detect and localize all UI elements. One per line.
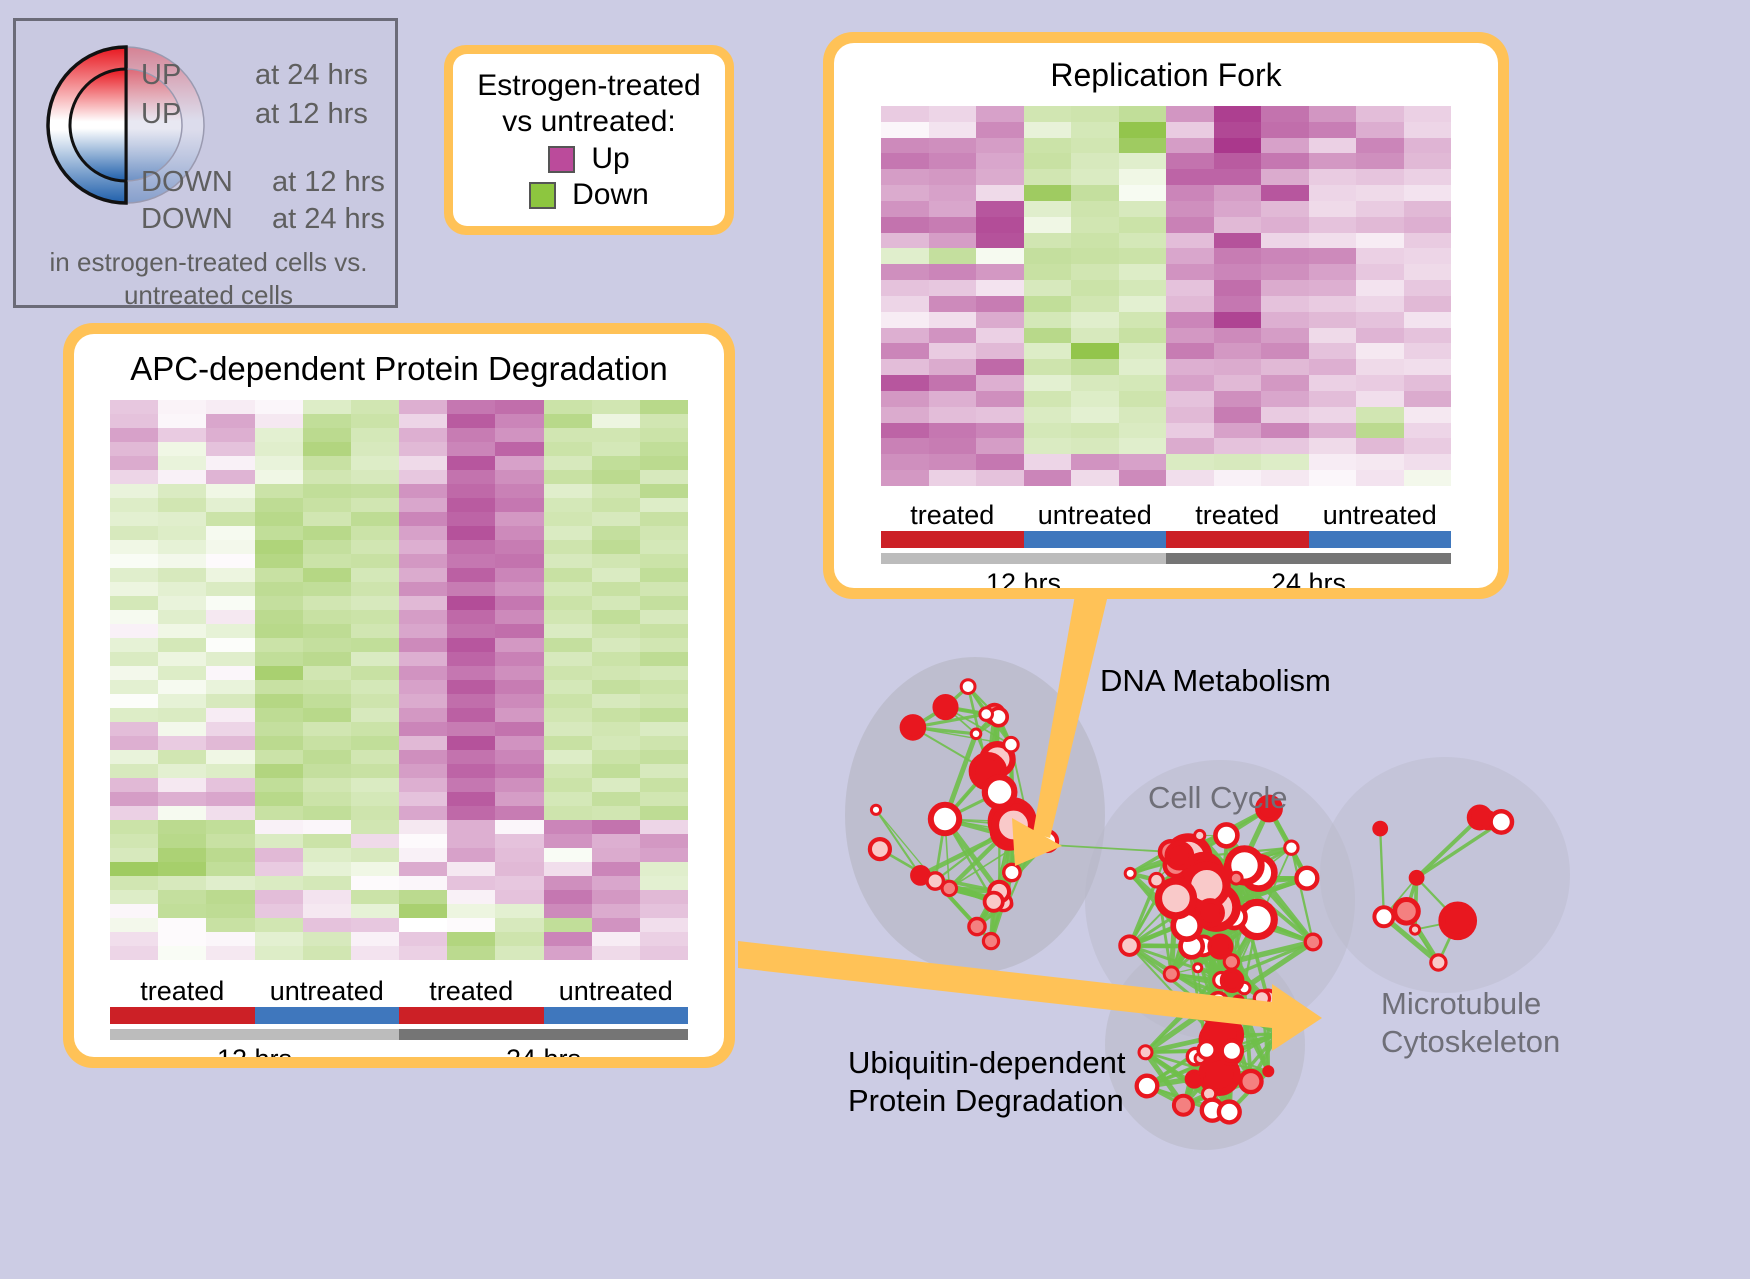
heatmap-cell — [1119, 328, 1167, 344]
heatmap-cell — [1166, 454, 1214, 470]
heatmap-cell — [1166, 328, 1214, 344]
heatmap-cell — [495, 932, 543, 946]
heatmap-cell — [447, 792, 495, 806]
heatmap-cell — [158, 442, 206, 456]
heatmap-cell — [592, 498, 640, 512]
heatmap-cell — [929, 153, 977, 169]
heatmap-cell — [495, 778, 543, 792]
heatmap-cell — [303, 610, 351, 624]
heatmap-cell — [158, 666, 206, 680]
heatmap-cell — [1166, 375, 1214, 391]
network-node — [1037, 831, 1057, 851]
heatmap-cell — [206, 442, 254, 456]
heatmap-cell — [1309, 153, 1357, 169]
heatmap-cell — [640, 498, 688, 512]
heatmap-cell — [351, 750, 399, 764]
heatmap-cell — [1166, 407, 1214, 423]
heatmap-cell — [303, 638, 351, 652]
heatmap-cell — [495, 652, 543, 666]
heatmap-cell — [1166, 296, 1214, 312]
heatmap-cell — [399, 778, 447, 792]
heatmap-cell — [447, 834, 495, 848]
network-node — [1004, 737, 1018, 751]
heatmap-cell — [399, 568, 447, 582]
network-node — [1194, 964, 1202, 972]
heatmap-cell — [1024, 185, 1072, 201]
key-time-down-24: at 24 hrs — [272, 203, 385, 236]
heatmap-cell — [976, 407, 1024, 423]
heatmap-cell — [351, 876, 399, 890]
down-label: Down — [572, 178, 649, 212]
heatmap-cell — [158, 680, 206, 694]
heatmap-cell — [544, 470, 592, 484]
heatmap-cell — [544, 708, 592, 722]
legend-title-line1: Estrogen-treated — [477, 68, 700, 104]
heatmap-cell — [206, 792, 254, 806]
heatmap-cell — [447, 778, 495, 792]
heatmap-cell — [255, 806, 303, 820]
network-node — [931, 805, 959, 833]
heatmap-cell — [592, 582, 640, 596]
heatmap-cell — [1261, 470, 1309, 486]
heatmap-cell — [206, 540, 254, 554]
heatmap-cell — [1071, 280, 1119, 296]
heatmap-cell — [592, 554, 640, 568]
heatmap-cell — [110, 638, 158, 652]
heatmap-cell — [255, 764, 303, 778]
heatmap-cell — [110, 526, 158, 540]
heatmap-cell — [495, 876, 543, 890]
heatmap-cell — [640, 526, 688, 540]
heatmap-cell — [495, 750, 543, 764]
heatmap-cell — [110, 918, 158, 932]
heatmap-cell — [1309, 169, 1357, 185]
heatmap-cell — [399, 764, 447, 778]
heatmap-cell — [1309, 264, 1357, 280]
heatmap-cell — [640, 722, 688, 736]
heatmap-cell — [495, 428, 543, 442]
heatmap-cell — [206, 820, 254, 834]
heatmap-cell — [206, 526, 254, 540]
heatmap-cell — [110, 456, 158, 470]
heatmap-cell — [640, 400, 688, 414]
heatmap-cell — [110, 414, 158, 428]
heatmap-cell — [110, 932, 158, 946]
heatmap-cell — [592, 512, 640, 526]
heatmap-cell — [206, 596, 254, 610]
heatmap-cell — [158, 778, 206, 792]
heatmap-cell — [1309, 201, 1357, 217]
heatmap-cell — [1261, 343, 1309, 359]
heatmap-cell — [881, 138, 929, 154]
heatmap-cell — [640, 484, 688, 498]
heatmap-cell — [303, 596, 351, 610]
heatmap-cell — [206, 638, 254, 652]
key-label-down-24: DOWN — [141, 203, 233, 236]
heatmap-cell — [447, 932, 495, 946]
network-node — [1274, 1029, 1283, 1038]
heatmap-cell — [1356, 328, 1404, 344]
heatmap-cell — [929, 280, 977, 296]
network-node — [985, 777, 1015, 807]
heatmap-cell — [447, 526, 495, 540]
heatmap-cell — [1261, 312, 1309, 328]
network-node — [935, 696, 957, 718]
heatmap-cell — [544, 932, 592, 946]
heatmap-cell — [495, 596, 543, 610]
heatmap-cell — [399, 918, 447, 932]
heatmap-cell — [158, 764, 206, 778]
heatmap-cell — [881, 201, 929, 217]
heatmap-cell — [303, 512, 351, 526]
network-node — [870, 839, 890, 859]
panel-apc-degradation: APC-dependent Protein Degradation treate… — [63, 323, 735, 1068]
heatmap-cell — [1024, 328, 1072, 344]
heatmap-cell — [351, 666, 399, 680]
heatmap-cell — [351, 554, 399, 568]
heatmap-cell — [255, 512, 303, 526]
heatmap-cell — [158, 414, 206, 428]
heatmap-cell — [640, 512, 688, 526]
heatmap-cell — [303, 484, 351, 498]
heatmap-cell — [399, 652, 447, 666]
heatmap-cell — [399, 736, 447, 750]
heatmap-cell — [495, 834, 543, 848]
heatmap-cell — [1261, 280, 1309, 296]
heatmap-cell — [592, 638, 640, 652]
heatmap-cell — [929, 343, 977, 359]
heatmap-cell — [1404, 169, 1452, 185]
heatmap-cell — [158, 512, 206, 526]
heatmap-cell — [1261, 201, 1309, 217]
heatmap-cell — [1024, 153, 1072, 169]
heatmap-cell — [592, 918, 640, 932]
heatmap-cell — [1356, 233, 1404, 249]
heatmap-cell — [1166, 264, 1214, 280]
heatmap-cell — [447, 596, 495, 610]
heatmap-cell — [640, 568, 688, 582]
heatmap-cell — [447, 624, 495, 638]
heatmap-cell — [929, 106, 977, 122]
heatmap-cell — [255, 498, 303, 512]
heatmap-cell — [1071, 153, 1119, 169]
heatmap-cell — [447, 442, 495, 456]
heatmap-cell — [495, 554, 543, 568]
heatmap-cell — [1071, 359, 1119, 375]
heatmap-cell — [1261, 264, 1309, 280]
condition-label: treated — [110, 976, 255, 1007]
heatmap-cell — [351, 764, 399, 778]
heatmap-cell — [351, 540, 399, 554]
condition-bars — [881, 531, 1451, 548]
heatmap-cell — [1166, 169, 1214, 185]
heatmap-cell — [351, 820, 399, 834]
replication-fork-title: Replication Fork — [834, 57, 1498, 94]
heatmap-cell — [1024, 359, 1072, 375]
heatmap-cell — [1356, 106, 1404, 122]
heatmap-cell — [255, 456, 303, 470]
heatmap-cell — [1024, 375, 1072, 391]
heatmap-cell — [544, 778, 592, 792]
heatmap-cell — [592, 722, 640, 736]
heatmap-cell — [495, 638, 543, 652]
up-label: Up — [591, 142, 629, 176]
condition-bar — [110, 1007, 255, 1024]
heatmap-cell — [640, 778, 688, 792]
heatmap-cell — [1356, 138, 1404, 154]
heatmap-cell — [929, 391, 977, 407]
heatmap-cell — [1261, 423, 1309, 439]
network-node — [1491, 811, 1512, 832]
heatmap-cell — [1214, 248, 1262, 264]
heatmap-cell — [881, 106, 929, 122]
heatmap-cell — [351, 428, 399, 442]
condition-label: untreated — [1309, 500, 1452, 531]
key-label-up-12: UP — [141, 98, 181, 131]
heatmap-cell — [447, 666, 495, 680]
heatmap-cell — [929, 201, 977, 217]
heatmap-cell — [1356, 217, 1404, 233]
heatmap-cell — [544, 792, 592, 806]
heatmap-cell — [1261, 407, 1309, 423]
heatmap-cell — [447, 568, 495, 582]
heatmap-cell — [110, 442, 158, 456]
heatmap-cell — [640, 750, 688, 764]
time-label: 12 hrs — [110, 1044, 399, 1057]
heatmap-cell — [881, 423, 929, 439]
heatmap-cell — [399, 414, 447, 428]
heatmap-cell — [1261, 122, 1309, 138]
heatmap-cell — [1309, 296, 1357, 312]
heatmap-cell — [399, 428, 447, 442]
heatmap-cell — [1166, 391, 1214, 407]
heatmap-cell — [399, 666, 447, 680]
heatmap-cell — [1309, 217, 1357, 233]
condition-bar — [1309, 531, 1452, 548]
heatmap-cell — [206, 470, 254, 484]
heatmap-cell — [1024, 248, 1072, 264]
heatmap-cell — [1119, 391, 1167, 407]
heatmap-cell — [1261, 217, 1309, 233]
heatmap-cell — [1166, 312, 1214, 328]
heatmap-cell — [303, 904, 351, 918]
heatmap-cell — [1119, 122, 1167, 138]
heatmap-cell — [1261, 296, 1309, 312]
heatmap-cell — [1404, 233, 1452, 249]
heatmap-cell — [158, 624, 206, 638]
condition-bar — [255, 1007, 400, 1024]
heatmap-cell — [351, 694, 399, 708]
heatmap-cell — [447, 750, 495, 764]
heatmap-cell — [110, 904, 158, 918]
heatmap-cell — [544, 666, 592, 680]
heatmap-cell — [110, 708, 158, 722]
heatmap-cell — [592, 652, 640, 666]
heatmap-cell — [206, 498, 254, 512]
heatmap-cell — [592, 932, 640, 946]
heatmap-cell — [255, 932, 303, 946]
heatmap-cell — [1166, 280, 1214, 296]
network-node — [1125, 868, 1135, 878]
heatmap-cell — [929, 185, 977, 201]
network-node — [969, 919, 985, 935]
heatmap-cell — [447, 414, 495, 428]
heatmap-cell — [976, 106, 1024, 122]
heatmap-cell — [592, 778, 640, 792]
heatmap-cell — [158, 736, 206, 750]
heatmap-cell — [592, 708, 640, 722]
heatmap-cell — [255, 582, 303, 596]
heatmap-cell — [1261, 454, 1309, 470]
heatmap-cell — [351, 722, 399, 736]
heatmap-cell — [1119, 359, 1167, 375]
heatmap-cell — [206, 876, 254, 890]
heatmap-cell — [640, 876, 688, 890]
heatmap-cell — [544, 414, 592, 428]
heatmap-cell — [1071, 201, 1119, 217]
heatmap-cell — [881, 217, 929, 233]
cluster-label-cell-cycle: Cell Cycle — [1148, 780, 1288, 816]
heatmap-cell — [303, 414, 351, 428]
heatmap-cell — [110, 554, 158, 568]
heatmap-cell — [303, 694, 351, 708]
network-node — [1469, 807, 1490, 828]
heatmap-cell — [303, 848, 351, 862]
heatmap-cell — [592, 876, 640, 890]
heatmap-cell — [1356, 375, 1404, 391]
heatmap-cell — [1024, 233, 1072, 249]
heatmap-cell — [399, 582, 447, 596]
heatmap-cell — [158, 456, 206, 470]
heatmap-cell — [929, 248, 977, 264]
heatmap-cell — [592, 428, 640, 442]
heatmap-cell — [303, 946, 351, 960]
heatmap-cell — [1214, 264, 1262, 280]
heatmap-cell — [255, 918, 303, 932]
heatmap-cell — [206, 414, 254, 428]
heatmap-cell — [206, 568, 254, 582]
heatmap-cell — [929, 407, 977, 423]
network-node — [1195, 830, 1205, 840]
heatmap-cell — [544, 526, 592, 540]
heatmap-cell — [592, 666, 640, 680]
heatmap-cell — [495, 708, 543, 722]
heatmap-cell — [206, 610, 254, 624]
heatmap-cell — [592, 736, 640, 750]
heatmap-cell — [158, 540, 206, 554]
network-node — [1004, 864, 1020, 880]
heatmap-cell — [544, 582, 592, 596]
heatmap-cell — [544, 512, 592, 526]
heatmap-cell — [1404, 264, 1452, 280]
heatmap-cell — [1261, 438, 1309, 454]
heatmap-cell — [206, 680, 254, 694]
heatmap-cell — [929, 359, 977, 375]
network-node — [871, 805, 880, 814]
heatmap-cell — [399, 890, 447, 904]
heatmap-cell — [1024, 454, 1072, 470]
heatmap-cell — [544, 806, 592, 820]
heatmap-cell — [1356, 169, 1404, 185]
heatmap-cell — [255, 946, 303, 960]
heatmap-cell — [1214, 407, 1262, 423]
heatmap-cell — [544, 498, 592, 512]
heatmap-cell — [303, 792, 351, 806]
heatmap-cell — [640, 540, 688, 554]
heatmap-cell — [255, 442, 303, 456]
heatmap-cell — [495, 890, 543, 904]
heatmap-cell — [640, 638, 688, 652]
heatmap-cell — [206, 708, 254, 722]
heatmap-cell — [399, 792, 447, 806]
heatmap-cell — [110, 568, 158, 582]
heatmap-cell — [110, 624, 158, 638]
heatmap-cell — [1024, 438, 1072, 454]
heatmap-cell — [1024, 391, 1072, 407]
heatmap-cell — [640, 792, 688, 806]
heatmap-cell — [976, 217, 1024, 233]
condition-label: untreated — [544, 976, 689, 1007]
heatmap-cell — [881, 470, 929, 486]
heatmap-cell — [351, 610, 399, 624]
network-node — [1264, 1067, 1273, 1076]
heatmap-cell — [110, 876, 158, 890]
time-bars — [110, 1029, 688, 1040]
heatmap-cell — [447, 722, 495, 736]
heatmap-cell — [592, 596, 640, 610]
heatmap-cell — [881, 122, 929, 138]
heatmap-cell — [1119, 138, 1167, 154]
heatmap-cell — [1404, 217, 1452, 233]
heatmap-cell — [1166, 185, 1214, 201]
heatmap-cell — [255, 736, 303, 750]
heatmap-cell — [881, 153, 929, 169]
heatmap-cell — [495, 722, 543, 736]
heatmap-cell — [255, 470, 303, 484]
heatmap-cell — [255, 596, 303, 610]
heatmap-cell — [351, 946, 399, 960]
heatmap-cell — [544, 400, 592, 414]
heatmap-cell — [1404, 470, 1452, 486]
heatmap-cell — [640, 834, 688, 848]
heatmap-cell — [1356, 470, 1404, 486]
heatmap-cell — [1404, 248, 1452, 264]
heatmap-cell — [1119, 296, 1167, 312]
heatmap-cell — [495, 498, 543, 512]
heatmap-cell — [206, 736, 254, 750]
heatmap-cell — [206, 484, 254, 498]
heatmap-cell — [399, 610, 447, 624]
heatmap-cell — [351, 568, 399, 582]
heatmap-cell — [929, 454, 977, 470]
heatmap-cell — [976, 264, 1024, 280]
heatmap-cell — [255, 750, 303, 764]
heatmap-cell — [1071, 438, 1119, 454]
time-bars — [881, 553, 1451, 564]
heatmap-cell — [447, 876, 495, 890]
heatmap-cell — [447, 862, 495, 876]
heatmap-cell — [1356, 153, 1404, 169]
heatmap-cell — [158, 848, 206, 862]
heatmap-cell — [1071, 328, 1119, 344]
heatmap-cell — [206, 848, 254, 862]
heatmap-cell — [303, 820, 351, 834]
heatmap-cell — [255, 624, 303, 638]
heatmap-cell — [158, 554, 206, 568]
heatmap-cell — [1119, 454, 1167, 470]
heatmap-cell — [1309, 328, 1357, 344]
heatmap-cell — [881, 233, 929, 249]
